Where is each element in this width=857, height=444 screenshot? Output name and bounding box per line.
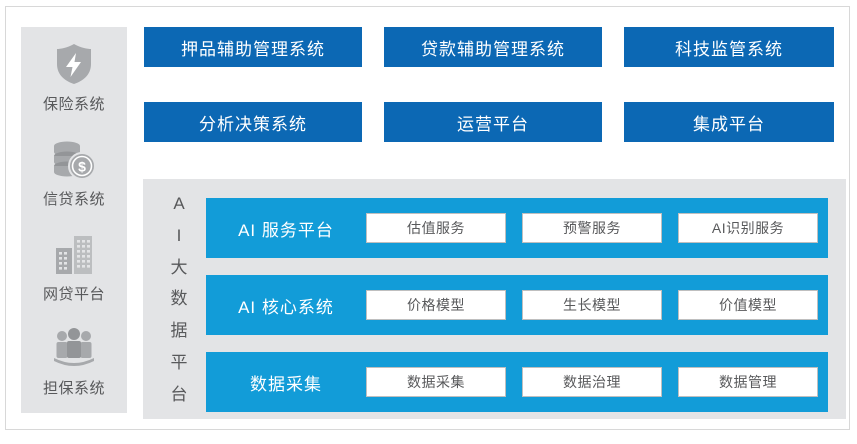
ai-bigdata-platform-vertical-label: A I 大 数 据 平 台	[159, 195, 199, 403]
ai-cell-ai-recognition-service[interactable]: AI识别服务	[678, 213, 818, 243]
ai-cell-growth-model[interactable]: 生长模型	[522, 290, 662, 320]
system-bar-tech-supervision[interactable]: 科技监管系统	[624, 27, 834, 67]
ai-cell-data-management[interactable]: 数据管理	[678, 367, 818, 397]
vertical-label-char: I	[177, 227, 182, 244]
ai-row-title: 数据采集	[206, 370, 366, 395]
sidebar-item-insurance[interactable]: 保险系统	[21, 37, 127, 114]
ai-row-service-platform[interactable]: AI 服务平台 估值服务 预警服务 AI识别服务	[206, 198, 828, 258]
ai-cell-data-collection[interactable]: 数据采集	[366, 367, 506, 397]
vertical-label-char: A	[173, 195, 184, 212]
ai-cell-price-model[interactable]: 价格模型	[366, 290, 506, 320]
sidebar-item-label: 保险系统	[21, 93, 127, 114]
system-bar-integration-platform[interactable]: 集成平台	[624, 102, 834, 142]
system-bar-label: 押品辅助管理系统	[181, 35, 325, 60]
ai-row-cell-group: 估值服务 预警服务 AI识别服务	[366, 213, 828, 243]
people-group-icon	[21, 321, 127, 375]
vertical-label-char: 数	[171, 290, 188, 307]
architecture-diagram-frame: 保险系统 $ 信贷系统	[5, 6, 850, 430]
system-bar-label: 贷款辅助管理系统	[421, 35, 565, 60]
ai-row-core-system[interactable]: AI 核心系统 价格模型 生长模型 价值模型	[206, 275, 828, 335]
sidebar-item-guarantee[interactable]: 担保系统	[21, 321, 127, 398]
system-bar-loan-assist-management[interactable]: 贷款辅助管理系统	[384, 27, 602, 67]
sidebar-item-label: 信贷系统	[21, 188, 127, 209]
system-bar-label: 分析决策系统	[199, 110, 307, 135]
vertical-label-char: 大	[171, 259, 188, 276]
sidebar-item-label: 网贷平台	[21, 283, 127, 304]
sidebar-item-online-lending[interactable]: 网贷平台	[21, 227, 127, 304]
system-bar-collateral-assist-management[interactable]: 押品辅助管理系统	[144, 27, 362, 67]
ai-row-data-collection[interactable]: 数据采集 数据采集 数据治理 数据管理	[206, 352, 828, 412]
sidebar-item-label: 担保系统	[21, 377, 127, 398]
coins-dollar-icon: $	[21, 132, 127, 186]
ai-row-cell-group: 数据采集 数据治理 数据管理	[366, 367, 828, 397]
ai-cell-valuation-service[interactable]: 估值服务	[366, 213, 506, 243]
system-bar-label: 运营平台	[457, 110, 529, 135]
ai-row-title: AI 核心系统	[206, 293, 366, 318]
vertical-label-char: 平	[171, 354, 188, 371]
ai-bigdata-platform-panel: A I 大 数 据 平 台 AI 服务平台 估值服务 预警服务 AI识别服务 A…	[143, 179, 846, 419]
ai-row-cell-group: 价格模型 生长模型 价值模型	[366, 290, 828, 320]
sidebar-systems-panel: 保险系统 $ 信贷系统	[21, 27, 127, 413]
ai-cell-alert-service[interactable]: 预警服务	[522, 213, 662, 243]
system-bar-operation-platform[interactable]: 运营平台	[384, 102, 602, 142]
svg-text:$: $	[78, 158, 86, 174]
ai-cell-value-model[interactable]: 价值模型	[678, 290, 818, 320]
system-bar-label: 集成平台	[693, 110, 765, 135]
ai-cell-data-governance[interactable]: 数据治理	[522, 367, 662, 397]
vertical-label-char: 台	[171, 386, 188, 403]
vertical-label-char: 据	[171, 322, 188, 339]
sidebar-item-credit[interactable]: $ 信贷系统	[21, 132, 127, 209]
system-bar-analysis-decision[interactable]: 分析决策系统	[144, 102, 362, 142]
buildings-icon	[21, 227, 127, 281]
ai-row-title: AI 服务平台	[206, 216, 366, 241]
system-bar-label: 科技监管系统	[675, 35, 783, 60]
shield-bolt-icon	[21, 37, 127, 91]
